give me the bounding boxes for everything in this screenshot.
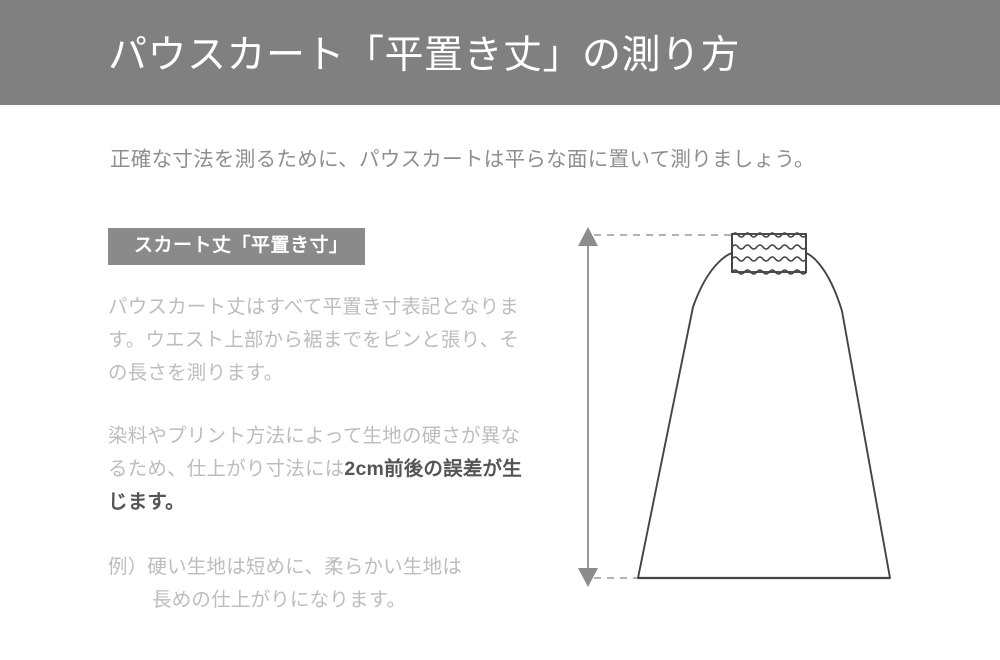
skirt-body-outline — [638, 253, 890, 578]
skirt-diagram — [560, 215, 980, 605]
header-band: パウスカート「平置き丈」の測り方 — [0, 0, 1000, 105]
example-first-line: 例）硬い生地は短めに、柔らかい生地は — [108, 556, 462, 578]
section-badge-skirt-length: スカート丈「平置き寸」 — [108, 228, 365, 265]
measure-arrow-head-up — [578, 227, 598, 246]
paragraph-measurement-method: パウスカート丈はすべて平置き寸表記となります。ウエスト上部から裾までをピンと張り… — [108, 291, 538, 390]
left-content-column: スカート丈「平置き寸」 パウスカート丈はすべて平置き寸表記となります。ウエスト上… — [108, 228, 538, 617]
paragraph-tolerance: 染料やプリント方法によって生地の硬さが異なるため、仕上がり寸法には2cm前後の誤… — [108, 420, 538, 519]
paragraph-example: 例）硬い生地は短めに、柔らかい生地は 長めの仕上がりになります。 — [108, 551, 538, 617]
page-title: パウスカート「平置き丈」の測り方 — [108, 33, 740, 79]
waistband-outline — [732, 234, 806, 272]
page-root: パウスカート「平置き丈」の測り方 正確な寸法を測るために、パウスカートは平らな面… — [0, 0, 1000, 660]
lead-instruction-text: 正確な寸法を測るために、パウスカートは平らな面に置いて測りましょう。 — [110, 145, 815, 175]
example-second-line: 長めの仕上がりになります。 — [108, 584, 538, 617]
